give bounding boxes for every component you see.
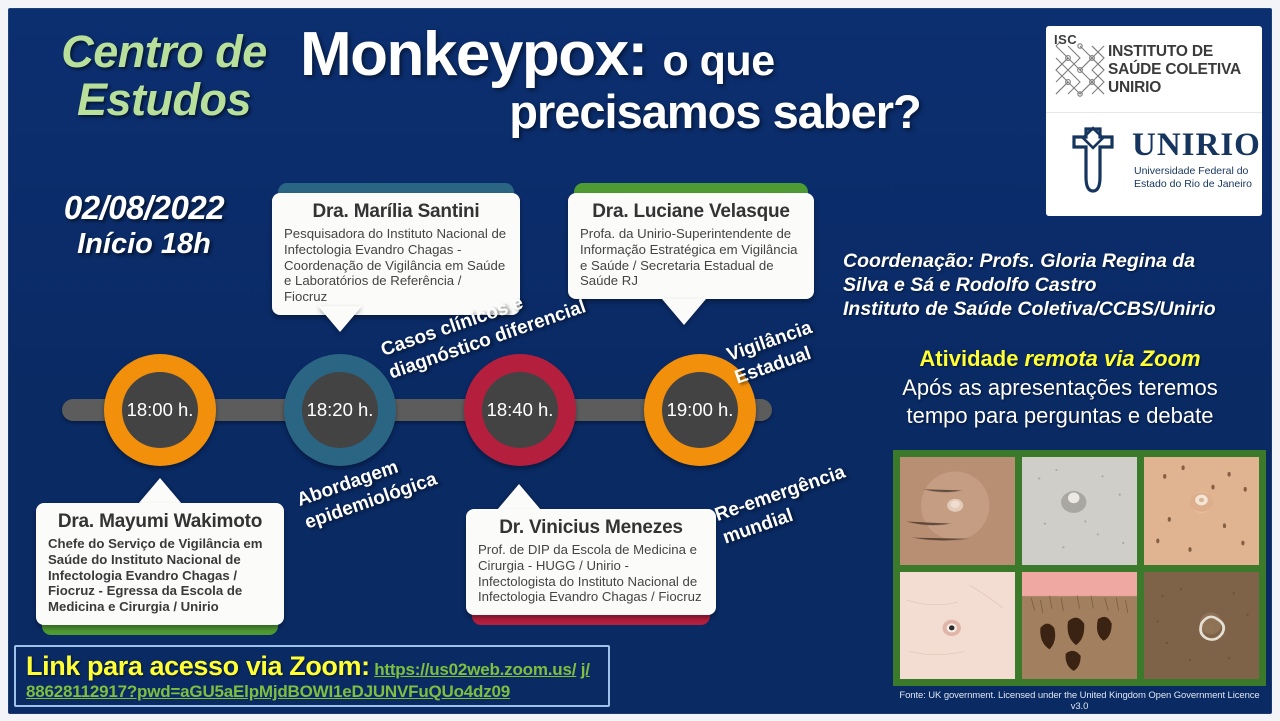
- speaker-description: Chefe do Serviço de Vigilância em Saúde …: [48, 536, 272, 615]
- speaker-name: Dra. Marília Santini: [284, 201, 508, 223]
- lesion-photo-4-detail: [900, 572, 1015, 680]
- lesion-photo-1-detail: [900, 457, 1015, 565]
- lesion-photo-2-detail: [1022, 457, 1137, 565]
- lesion-photo-3: [1144, 457, 1259, 565]
- timeline-node-1-time: 18:00 h.: [122, 372, 198, 448]
- timeline-node-3-time: 18:40 h.: [482, 372, 558, 448]
- isc-line3: UNIRIO: [1108, 79, 1161, 96]
- unirio-crest-icon: [1060, 125, 1126, 203]
- zoom-link-line1[interactable]: https://us02web.zoom.us/: [374, 660, 576, 679]
- zoom-access-bar[interactable]: Link para acesso via Zoom: https://us02w…: [14, 645, 610, 707]
- isc-mesh-icon: [1054, 42, 1106, 98]
- unirio-sub-line2: Estado do Rio de Janeiro: [1134, 178, 1252, 191]
- speaker-name: Dra. Mayumi Wakimoto: [48, 511, 272, 533]
- event-poster: Centro de Estudos 02/08/2022 Início 18h …: [0, 0, 1280, 721]
- timeline-node-2: 18:20 h.: [284, 354, 396, 466]
- timeline-node-1: 18:00 h.: [104, 354, 216, 466]
- lesion-photo-2: [1022, 457, 1137, 565]
- speaker-description: Pesquisadora do Instituto Nacional de In…: [284, 226, 508, 305]
- remote-headline-emphasis: remota via Zoom: [1025, 346, 1201, 371]
- lesion-photo-6: [1144, 572, 1259, 680]
- event-date: 02/08/2022: [14, 190, 274, 226]
- remote-headline-lead: Atividade: [919, 346, 1024, 371]
- page-title: Monkeypox: o que precisamos saber?: [300, 24, 1040, 138]
- speaker-card-tail: [662, 299, 706, 325]
- speaker-name: Dra. Luciane Velasque: [580, 201, 802, 223]
- speaker-card-tail: [138, 478, 182, 504]
- remote-activity-block: Atividade remota via Zoom Após as aprese…: [860, 345, 1260, 430]
- isc-logo-text: INSTITUTO DE SAÚDE COLETIVA UNIRIO: [1108, 43, 1241, 97]
- title-main: Monkeypox:: [300, 20, 647, 89]
- photo-source-caption: Fonte: UK government. Licensed under the…: [893, 690, 1266, 712]
- series-title-line1: Centro de: [24, 28, 304, 76]
- lesion-photo-3-detail: [1144, 457, 1259, 565]
- speaker-card-mayumi-wakimoto: Dra. Mayumi Wakimoto Chefe do Serviço de…: [36, 503, 284, 635]
- lesion-photo-4: [900, 572, 1015, 680]
- speaker-card-body: Dra. Luciane Velasque Profa. da Unirio-S…: [568, 193, 814, 299]
- zoom-access-label: Link para acesso via Zoom:: [26, 651, 370, 681]
- lesion-photo-grid: [893, 450, 1266, 686]
- title-second-line: precisamos saber?: [300, 86, 1040, 138]
- isc-logo: ISC INSTITUTO DE: [1046, 26, 1262, 113]
- speaker-card-tail: [497, 484, 541, 510]
- remote-note-line1: Após as apresentações teremos: [860, 375, 1260, 402]
- coordination-line3: Instituto de Saúde Coletiva/CCBS/Unirio: [843, 298, 1263, 322]
- timeline-node-4-time: 19:00 h.: [662, 372, 738, 448]
- speaker-card-marilia-santini: Dra. Marília Santini Pesquisadora do Ins…: [272, 183, 520, 315]
- series-title-line2: Estudos: [24, 76, 304, 124]
- title-main-tail: o que: [662, 37, 774, 85]
- event-start-time: Início 18h: [14, 226, 274, 262]
- series-title: Centro de Estudos: [24, 28, 304, 123]
- isc-line1: INSTITUTO DE: [1108, 43, 1241, 61]
- institution-logos: ISC INSTITUTO DE: [1046, 26, 1262, 216]
- speaker-card-body: Dra. Marília Santini Pesquisadora do Ins…: [272, 193, 520, 315]
- lesion-photo-5-detail: [1022, 572, 1137, 680]
- unirio-subtitle: Universidade Federal do Estado do Rio de…: [1134, 165, 1252, 191]
- remote-note-line2: tempo para perguntas e debate: [860, 403, 1260, 430]
- speaker-card-tail: [318, 306, 362, 332]
- lesion-photo-6-detail: [1144, 572, 1259, 680]
- unirio-logo: UNIRIO Universidade Federal do Estado do…: [1046, 113, 1262, 216]
- speaker-description: Prof. de DIP da Escola de Medicina e Cir…: [478, 542, 704, 605]
- timeline-node-3: 18:40 h.: [464, 354, 576, 466]
- isc-line2: SAÚDE COLETIVA: [1108, 61, 1241, 79]
- speaker-card-luciane-velasque: Dra. Luciane Velasque Profa. da Unirio-S…: [568, 183, 814, 299]
- speaker-description: Profa. da Unirio-Superintendente de Info…: [580, 226, 802, 289]
- speaker-card-vinicius-menezes: Dr. Vinicius Menezes Prof. de DIP da Esc…: [466, 509, 716, 625]
- speaker-card-body: Dra. Mayumi Wakimoto Chefe do Serviço de…: [36, 503, 284, 625]
- coordination-block: Coordenação: Profs. Gloria Regina da Sil…: [843, 250, 1263, 321]
- unirio-wordmark: UNIRIO: [1132, 129, 1261, 162]
- speaker-card-body: Dr. Vinicius Menezes Prof. de DIP da Esc…: [466, 509, 716, 615]
- coordination-line1: Coordenação: Profs. Gloria Regina da: [843, 250, 1263, 274]
- timeline-node-2-time: 18:20 h.: [302, 372, 378, 448]
- event-date-block: 02/08/2022 Início 18h: [14, 190, 274, 263]
- lesion-photo-5: [1022, 572, 1137, 680]
- lesion-photo-1: [900, 457, 1015, 565]
- coordination-line2: Silva e Sá e Rodolfo Castro: [843, 274, 1263, 298]
- unirio-sub-line1: Universidade Federal do: [1134, 165, 1252, 178]
- speaker-name: Dr. Vinicius Menezes: [478, 517, 704, 539]
